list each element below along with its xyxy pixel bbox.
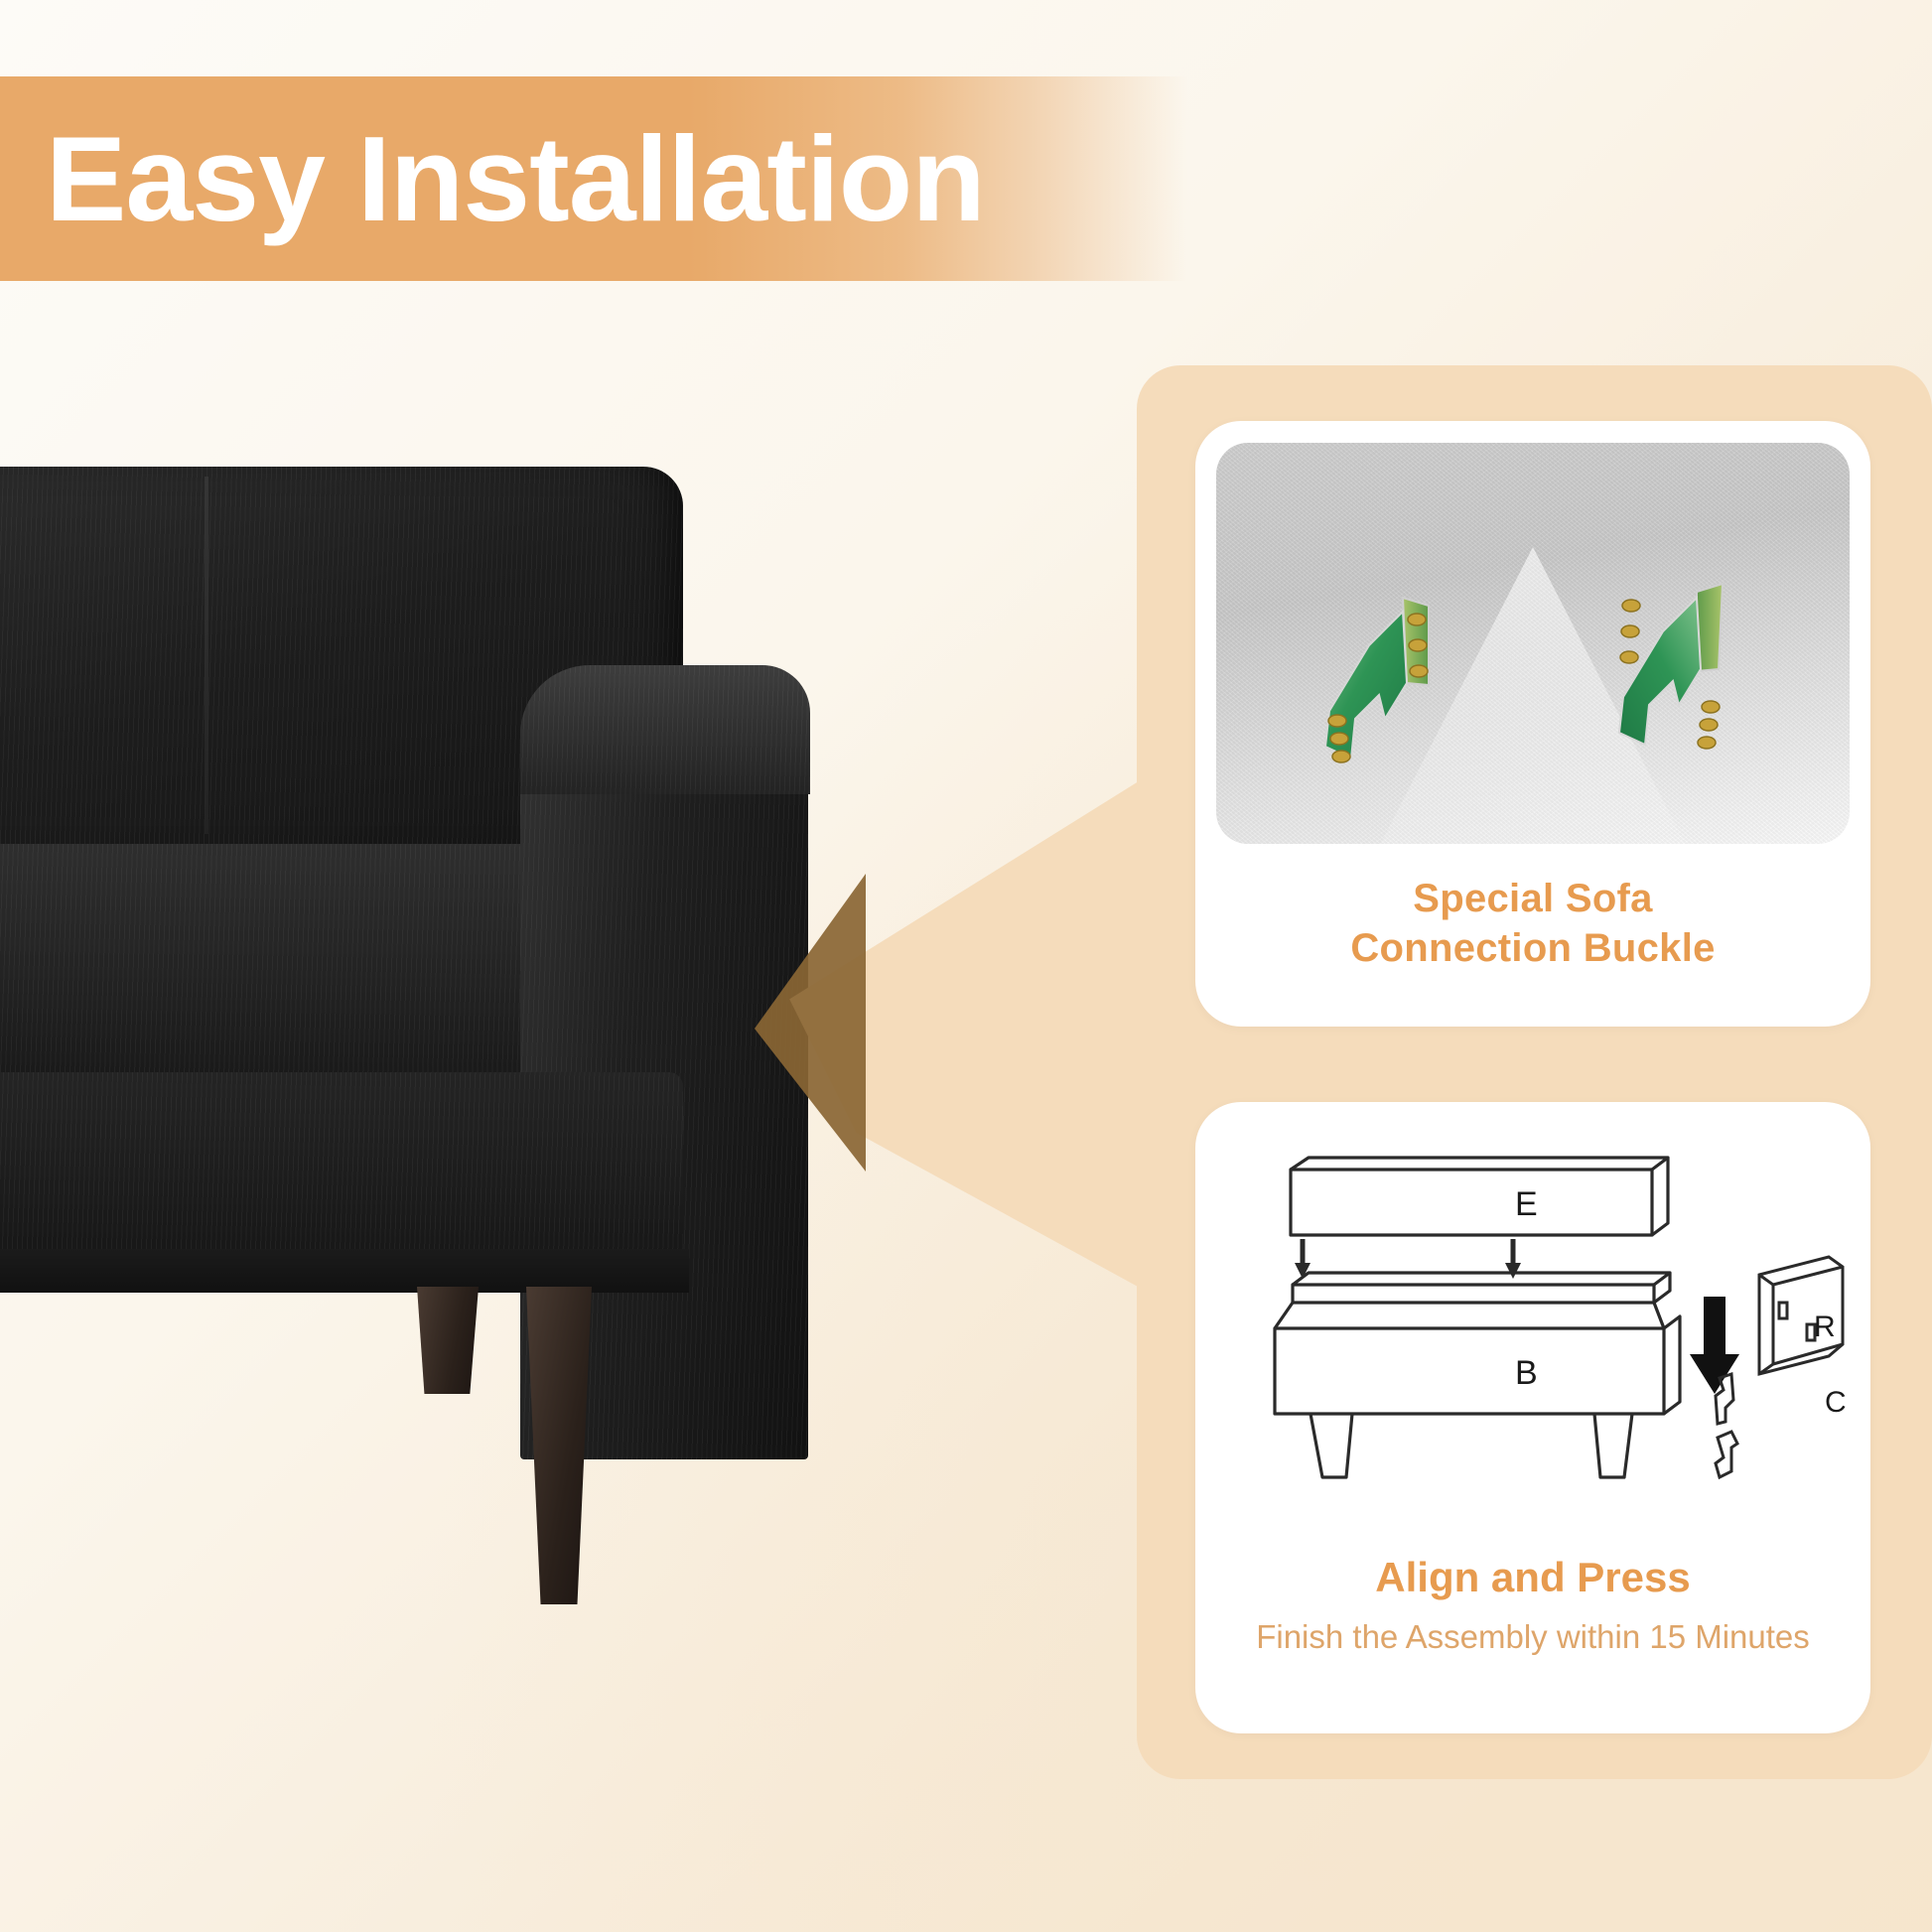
fabric-texture xyxy=(0,1072,683,1271)
connection-bracket-left-icon xyxy=(1311,592,1443,770)
sofa-base xyxy=(0,1072,683,1271)
diagram-label-b: B xyxy=(1515,1354,1538,1392)
connection-bracket-right-icon xyxy=(1605,578,1736,757)
page-title: Easy Installation xyxy=(46,118,985,239)
product-infographic: Easy Installation xyxy=(0,0,1932,1932)
card-subtitle: Finish the Assembly within 15 Minutes xyxy=(1256,1618,1810,1656)
sofa-photo xyxy=(0,467,862,1618)
card-caption-line-2: Connection Buckle xyxy=(1350,923,1715,973)
sofa-armrest-top xyxy=(520,665,810,794)
card-align-and-press: E B R C xyxy=(1195,1102,1870,1733)
header-banner: Easy Installation xyxy=(0,76,1187,281)
diagram-label-r: R xyxy=(1814,1311,1836,1343)
assembly-diagram: E B R C xyxy=(1215,1128,1851,1519)
sofa-skirt xyxy=(0,1249,689,1293)
card-caption: Special Sofa Connection Buckle xyxy=(1350,874,1715,974)
card-connection-buckle: Special Sofa Connection Buckle xyxy=(1195,421,1870,1027)
fabric-texture xyxy=(520,665,810,794)
diagram-label-c: C xyxy=(1825,1386,1847,1419)
diagram-label-e: E xyxy=(1515,1185,1538,1223)
bracket-photo xyxy=(1216,443,1850,844)
card-title: Align and Press xyxy=(1375,1553,1690,1602)
sofa-leg xyxy=(417,1287,479,1394)
card-caption-line-1: Special Sofa xyxy=(1350,874,1715,923)
sofa-leg xyxy=(526,1287,592,1604)
